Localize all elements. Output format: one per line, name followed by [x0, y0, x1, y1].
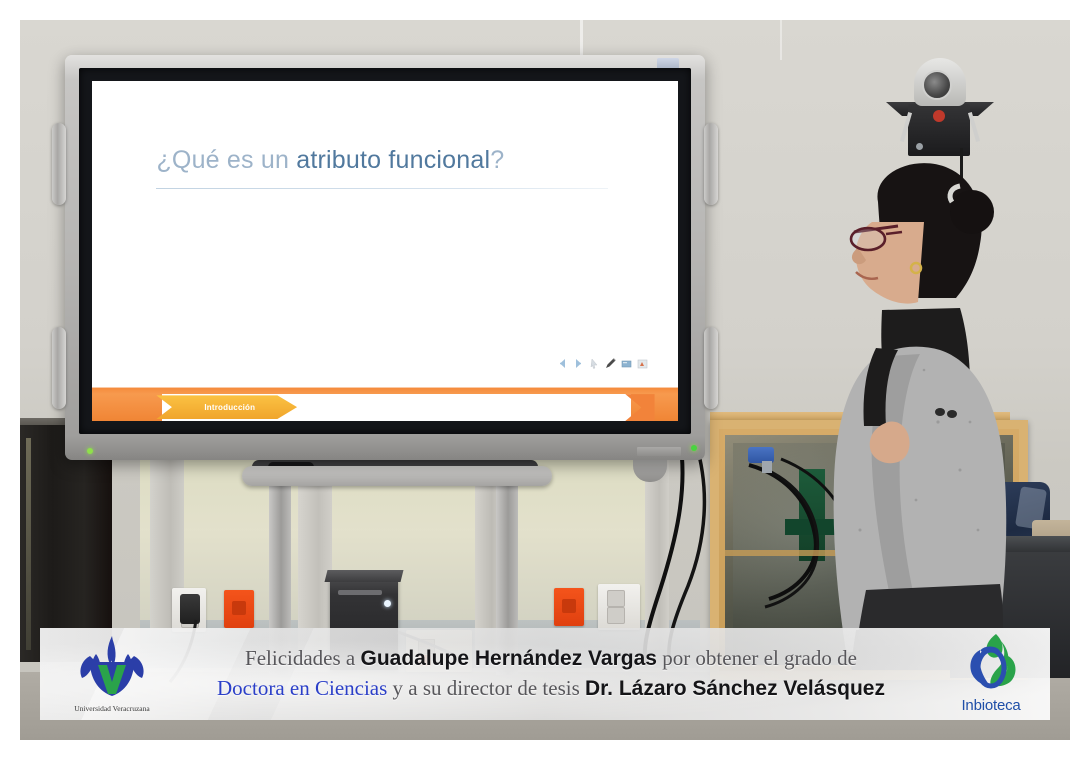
slide-footer-section-label: Introducción	[198, 403, 255, 412]
presenter-figure	[820, 160, 1070, 670]
whiteboard-screen[interactable]: ¿Qué es un atributo funcional?	[92, 81, 678, 421]
uv-logo-mark	[60, 632, 164, 702]
pen-icon[interactable]	[604, 357, 617, 370]
whiteboard-inner-frame: ¿Qué es un atributo funcional?	[79, 68, 691, 434]
whiteboard-handle-bottom-left[interactable]	[52, 327, 66, 409]
power-plug	[180, 594, 200, 624]
wall-outlet-orange-2	[554, 588, 584, 626]
slide-footer-band: Introducción	[92, 380, 678, 421]
slide-title-emphasis: atributo funcional	[296, 146, 490, 174]
whiteboard-brand-plate	[637, 447, 681, 456]
camera-button	[916, 143, 923, 150]
interactive-whiteboard[interactable]: ¿Qué es un atributo funcional?	[65, 55, 705, 460]
tower-top	[325, 570, 404, 582]
previous-slide-icon[interactable]	[556, 357, 569, 370]
universidad-veracruzana-logo: Universidad Veracruzana	[60, 632, 164, 716]
inbioteca-logo-mark	[938, 630, 1044, 698]
camera-head	[914, 58, 966, 106]
caption-text-block: Felicidades a Guadalupe Hernández Vargas…	[172, 628, 930, 720]
polycom-logo-icon	[933, 110, 945, 122]
presenter-button-2	[947, 410, 957, 418]
slideshow-controls[interactable]	[556, 357, 649, 370]
stand-pen-tray	[242, 466, 552, 486]
whiteboard-status-led	[691, 445, 697, 451]
vga-connector-shell	[762, 461, 772, 473]
slide-footer-section-tab: Introducción	[156, 395, 297, 419]
next-slide-icon[interactable]	[572, 357, 585, 370]
wall-seam-secondary	[780, 20, 782, 60]
slide-title-underline	[156, 188, 607, 189]
more-options-icon[interactable]	[636, 357, 649, 370]
polycom-videoconference-camera	[886, 48, 994, 164]
pointer-options-icon[interactable]	[588, 357, 601, 370]
camera-lens-icon	[922, 70, 952, 100]
caption-l1-part-3: por obtener el grado de	[657, 646, 857, 670]
wall-outlet-orange	[224, 590, 254, 628]
dark-curtain	[20, 425, 112, 662]
presenter-button-1	[935, 408, 945, 416]
whiteboard-power-led	[87, 448, 93, 454]
caption-l1-part-1: Felicidades a	[245, 646, 360, 670]
slide-title-suffix: ?	[490, 146, 504, 174]
tower-power-led	[384, 600, 391, 607]
photograph: ¿Qué es un atributo funcional?	[20, 20, 1070, 740]
slide-title: ¿Qué es un atributo funcional?	[156, 146, 504, 175]
curtain-edge-strip	[26, 438, 31, 650]
inbioteca-logo-caption: Inbioteca	[938, 697, 1044, 714]
caption-banner: Universidad Veracruzana Felicidades a Gu…	[40, 628, 1050, 720]
presenter-hair-bun	[950, 190, 994, 234]
caption-l2-part-2: y a su director de tesis	[387, 676, 585, 700]
wall-outlet-white-2	[598, 584, 640, 630]
presenter-glasses-lens	[851, 228, 885, 250]
caption-line-1: Felicidades a Guadalupe Hernández Vargas…	[245, 644, 857, 674]
whiteboard-handle-top-right[interactable]	[704, 123, 718, 205]
inbioteca-logo: Inbioteca	[938, 630, 1044, 718]
slide-menu-icon[interactable]	[620, 357, 633, 370]
slide-title-prefix: ¿Qué es un	[156, 146, 296, 174]
powerpoint-slide[interactable]: ¿Qué es un atributo funcional?	[92, 81, 678, 421]
photo-frame: ¿Qué es un atributo funcional?	[0, 0, 1090, 760]
caption-line-2: Doctora en Ciencias y a su director de t…	[217, 674, 885, 704]
caption-l2-part-1: Doctora en Ciencias	[217, 676, 387, 700]
whiteboard-handle-top-left[interactable]	[52, 123, 66, 205]
caption-l1-part-2: Guadalupe Hernández Vargas	[361, 647, 657, 670]
whiteboard-handle-bottom-right[interactable]	[704, 327, 718, 409]
tower-drive-slot	[338, 590, 382, 595]
caption-l2-part-3: Dr. Lázaro Sánchez Velásquez	[585, 677, 885, 700]
uv-logo-caption: Universidad Veracruzana	[60, 704, 164, 713]
